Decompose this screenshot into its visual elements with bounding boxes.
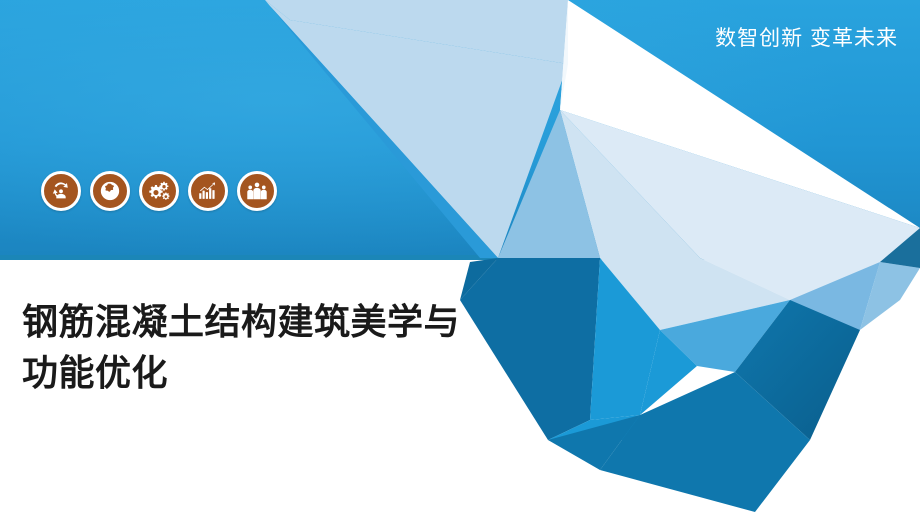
gears-icon[interactable] bbox=[139, 171, 179, 211]
background-artwork bbox=[0, 0, 920, 518]
feature-icon-row bbox=[41, 171, 277, 211]
page-title-line-2: 功能优化 bbox=[22, 347, 542, 398]
recycle-people-icon[interactable] bbox=[41, 171, 81, 211]
slide-tagline: 数智创新 变革未来 bbox=[715, 28, 898, 49]
globe-icon[interactable] bbox=[90, 171, 130, 211]
page-title: 钢筋混凝土结构建筑美学与 功能优化 bbox=[22, 296, 542, 398]
presentation-slide: 数智创新 变革未来 bbox=[0, 0, 920, 518]
bar-chart-growth-icon[interactable] bbox=[188, 171, 228, 211]
team-people-icon[interactable] bbox=[237, 171, 277, 211]
page-title-line-1: 钢筋混凝土结构建筑美学与 bbox=[22, 296, 542, 347]
